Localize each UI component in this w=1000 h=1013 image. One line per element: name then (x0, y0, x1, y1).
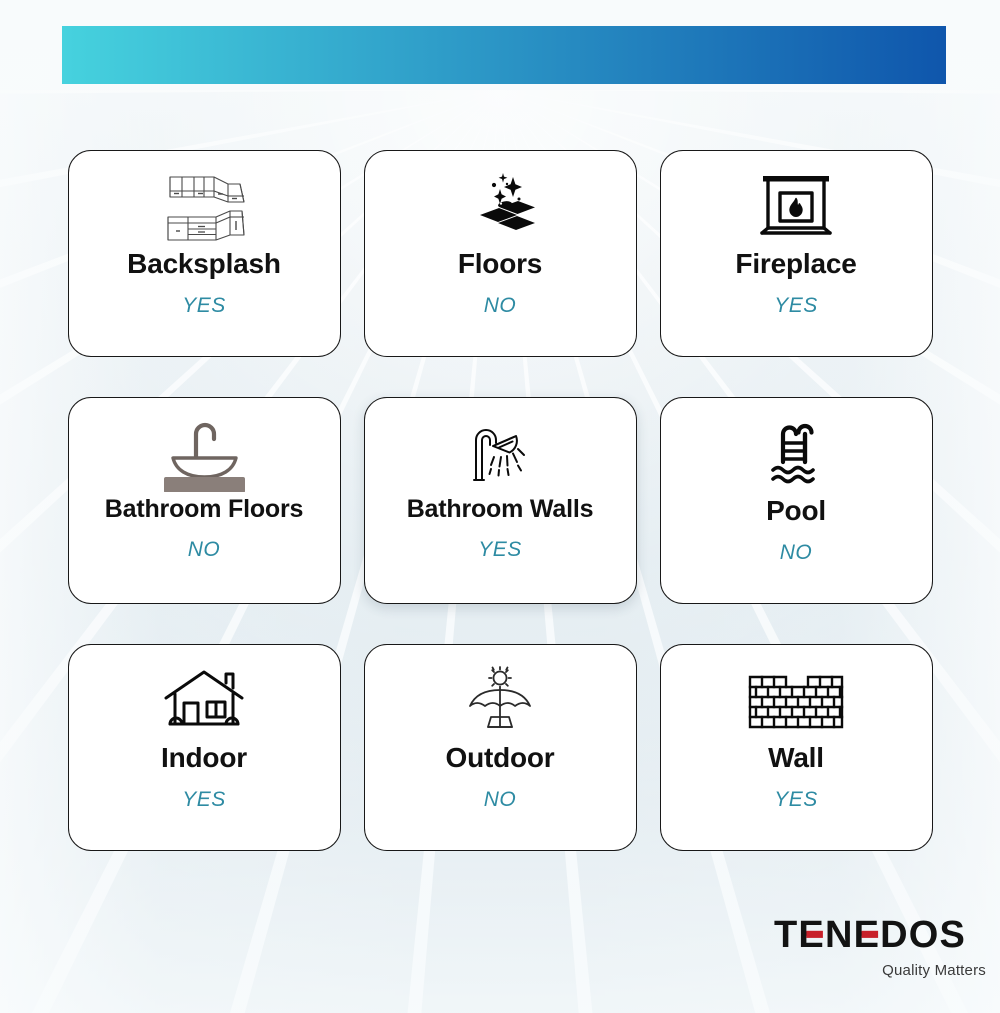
card-row: Bathroom Floors NO (0, 397, 1000, 604)
tiled-floor-sparkle-icon (456, 171, 544, 245)
card-label: Backsplash (127, 249, 281, 280)
card-label: Floors (458, 249, 542, 280)
card-bathroom-floors[interactable]: Bathroom Floors NO (68, 397, 341, 604)
card-label: Wall (768, 743, 824, 774)
card-row: Backsplash YES (0, 150, 1000, 357)
header-gradient-bar (62, 26, 946, 84)
card-label: Fireplace (735, 249, 856, 280)
shower-head-icon (460, 418, 540, 492)
brick-wall-icon (745, 665, 847, 739)
card-answer: NO (484, 294, 517, 318)
card-wall[interactable]: Wall YES (660, 644, 933, 851)
vessel-sink-icon (150, 418, 258, 492)
brand-wordmark: TENEDOS (774, 916, 986, 956)
card-answer: YES (182, 788, 226, 812)
card-answer: NO (484, 788, 517, 812)
brand-logo: TENEDOS Quality Matters (774, 916, 986, 978)
card-indoor[interactable]: Indoor YES (68, 644, 341, 851)
card-pool[interactable]: Pool NO (660, 397, 933, 604)
card-bathroom-walls[interactable]: Bathroom Walls YES (364, 397, 637, 604)
fireplace-icon (756, 171, 836, 245)
brand-tagline: Quality Matters (774, 963, 986, 978)
card-row: Indoor YES (0, 644, 1000, 851)
card-answer: YES (478, 538, 522, 562)
card-label: Bathroom Floors (105, 496, 303, 524)
pool-ladder-icon (763, 418, 829, 492)
house-icon (158, 665, 250, 739)
card-answer: NO (780, 541, 813, 565)
card-label: Indoor (161, 743, 247, 774)
card-fireplace[interactable]: Fireplace YES (660, 150, 933, 357)
feature-card-grid: Backsplash YES (0, 150, 1000, 851)
card-label: Bathroom Walls (407, 496, 594, 524)
card-answer: YES (774, 788, 818, 812)
card-backsplash[interactable]: Backsplash YES (68, 150, 341, 357)
sun-umbrella-icon (462, 665, 538, 739)
card-outdoor[interactable]: Outdoor NO (364, 644, 637, 851)
header-banner: SPLASH COLLECTION (62, 26, 946, 84)
kitchen-cabinets-icon (158, 171, 250, 245)
card-label: Pool (766, 496, 826, 527)
card-answer: YES (774, 294, 818, 318)
card-label: Outdoor (445, 743, 554, 774)
card-answer: NO (188, 538, 221, 562)
card-floors[interactable]: Floors NO (364, 150, 637, 357)
card-answer: YES (182, 294, 226, 318)
